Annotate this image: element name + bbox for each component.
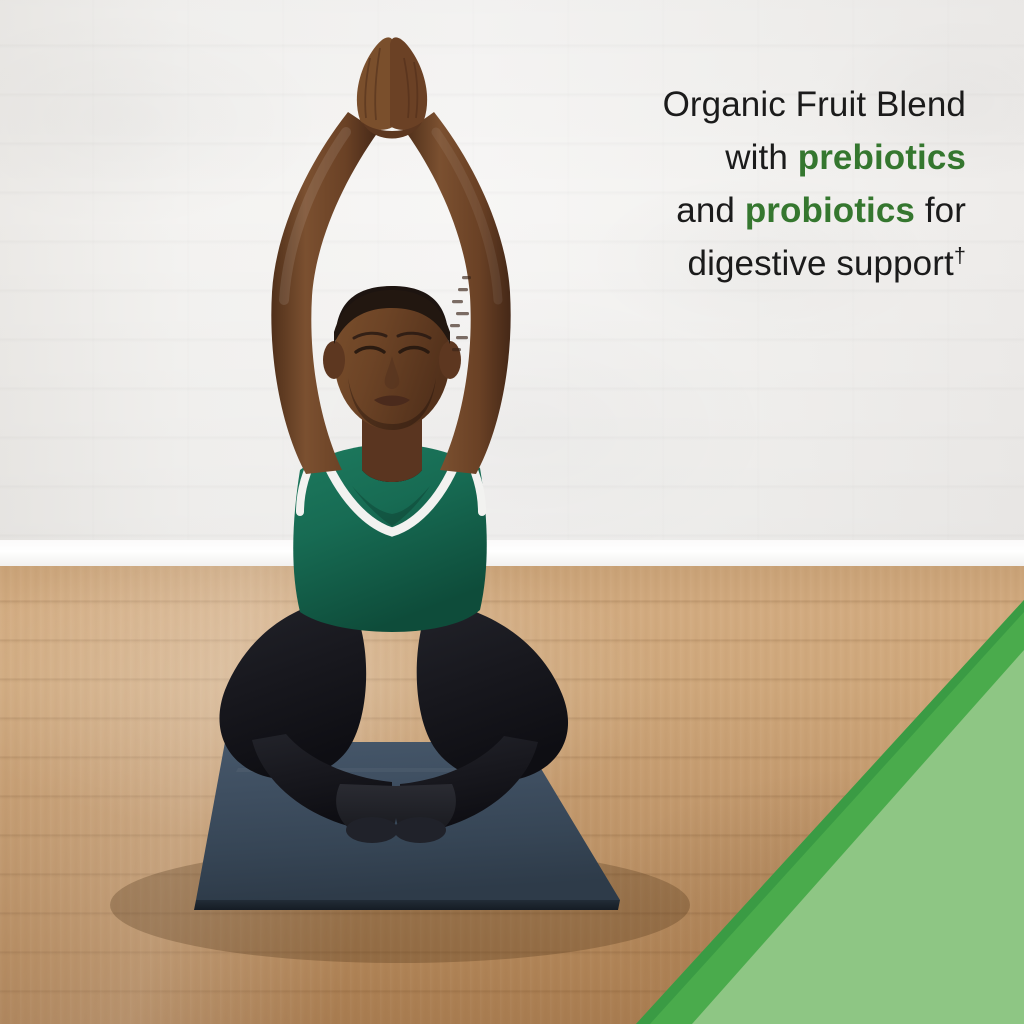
headline-line-3: and probiotics for xyxy=(546,184,966,237)
dagger-footnote-symbol: † xyxy=(954,242,966,267)
headline-block: Organic Fruit Blend with prebiotics and … xyxy=(546,78,966,290)
headline-line-1: Organic Fruit Blend xyxy=(546,78,966,131)
headline-accent-probiotics: probiotics xyxy=(745,191,915,230)
promo-image-canvas: Organic Fruit Blend with prebiotics and … xyxy=(0,0,1024,1024)
headline-line-3-suffix: for xyxy=(915,191,966,230)
headline-line-2-prefix: with xyxy=(725,138,797,177)
headline-line-3-prefix: and xyxy=(676,191,745,230)
headline-line-2: with prebiotics xyxy=(546,131,966,184)
headline-accent-prebiotics: prebiotics xyxy=(798,138,966,177)
headline-line-4: digestive support† xyxy=(546,237,966,290)
headline-line-4-text: digestive support xyxy=(688,244,954,283)
